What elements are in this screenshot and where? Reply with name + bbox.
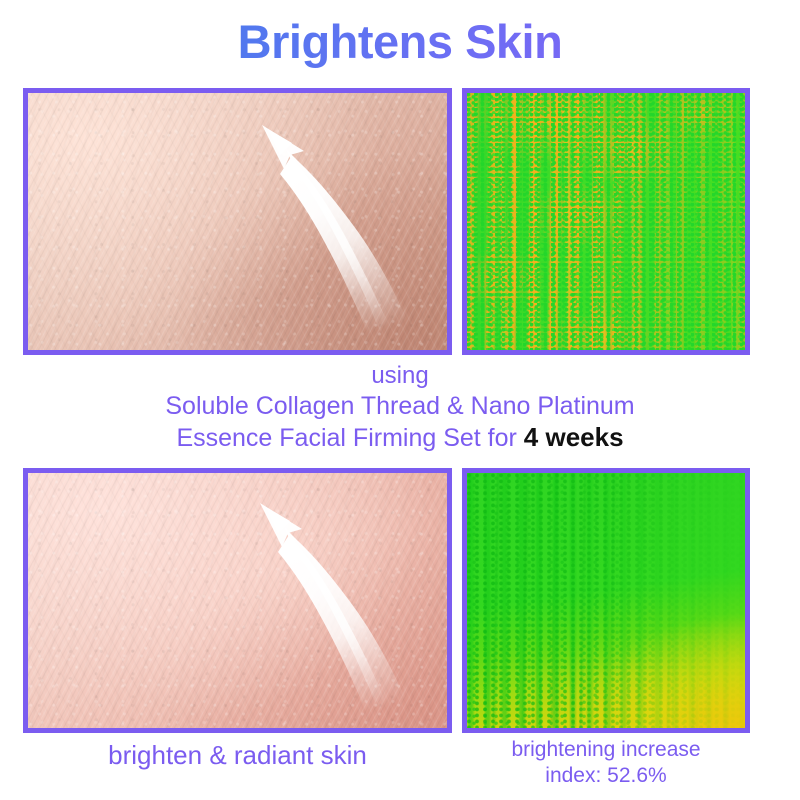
before-brightness-map-panel <box>462 88 750 355</box>
after-map-caption-line2: index: 52.6% <box>545 764 666 787</box>
map-green-speckle-layer <box>467 93 745 350</box>
before-skin-photo-panel <box>23 88 452 355</box>
treatment-caption: using Soluble Collagen Thread & Nano Pla… <box>0 360 800 454</box>
after-map-caption: brightening increase index: 52.6% <box>462 737 750 789</box>
after-map-caption-line1: brightening increase <box>511 738 700 761</box>
after-skin-photo-panel <box>23 468 452 733</box>
after-brightness-map-panel <box>462 468 750 733</box>
duration-highlight: 4 weeks <box>524 422 624 452</box>
curved-up-left-arrow-icon <box>28 93 447 350</box>
caption-product-name-line2: Essence Facial Firming Set for 4 weeks <box>0 422 800 454</box>
curved-up-left-arrow-icon <box>28 473 447 728</box>
page-title: Brightens Skin <box>0 14 800 70</box>
caption-product-name-prefix: Essence Facial Firming Set for <box>176 424 523 452</box>
map-green-speckle-layer <box>467 473 745 728</box>
after-skin-caption: brighten & radiant skin <box>23 739 452 771</box>
caption-product-name-line1: Soluble Collagen Thread & Nano Platinum <box>0 391 800 422</box>
caption-using-label: using <box>0 360 800 391</box>
product-claim-graphic: Brightens Skin <box>0 0 800 800</box>
